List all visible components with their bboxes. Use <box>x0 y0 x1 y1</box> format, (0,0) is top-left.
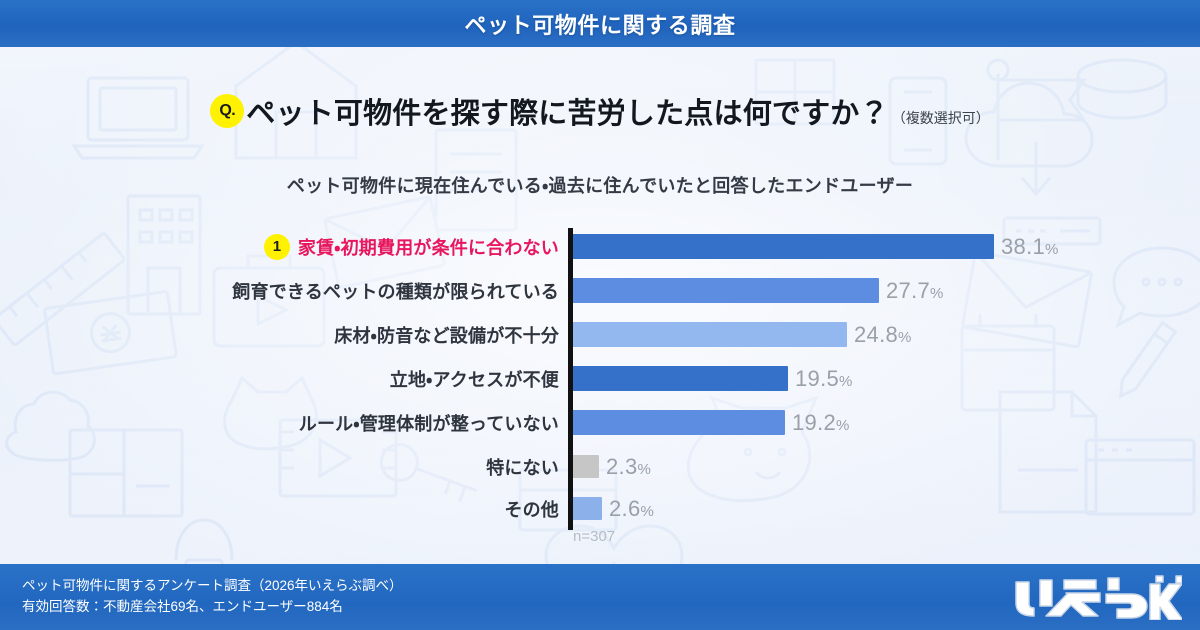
chart-bar <box>573 278 879 303</box>
chart-row-label-wrap: 1 家賃・初期費用が条件に合わない <box>0 228 568 265</box>
chart-row-label-wrap: 飼育できるペットの種類が限られている <box>0 272 568 309</box>
chart-bar <box>573 455 599 478</box>
chart-category-label: 家賃・初期費用が条件に合わない <box>298 234 559 260</box>
footer-line-1: ペット可物件に関するアンケート調査（2026年いえらぶ調べ） <box>22 575 403 596</box>
chart-bar-value: 19.2% <box>792 410 850 436</box>
ielove-logo <box>1010 574 1182 620</box>
chart-row: 飼育できるペットの種類が限られている 27.7% <box>0 272 1200 309</box>
chart-category-label: 飼育できるペットの種類が限られている <box>232 278 559 304</box>
footer-source-text: ペット可物件に関するアンケート調査（2026年いえらぶ調べ） 有効回答数：不動産… <box>22 575 403 617</box>
chart-category-label: 特にない <box>486 454 559 480</box>
chart-row-label-wrap: ルール・管理体制が整っていない <box>0 404 568 441</box>
header-bar: ペット可物件に関する調査 <box>0 0 1200 47</box>
chart-bar-value: 27.7% <box>886 278 944 304</box>
chart-bar-wrap: 24.8% <box>573 316 912 353</box>
chart-bar-value: 2.6% <box>609 496 654 522</box>
chart-row: 1 家賃・初期費用が条件に合わない 38.1% <box>0 228 1200 265</box>
chart-category-label: 立地・アクセスが不便 <box>390 366 559 392</box>
chart-bar-wrap: 27.7% <box>573 272 944 309</box>
infographic-canvas: ペット可物件に関する調査 Q. ペット可物件を探す際に苦労した点は何ですか？ （… <box>0 0 1200 630</box>
chart-bar-wrap: 2.6% <box>573 490 654 527</box>
chart-bar-wrap: 2.3% <box>573 448 651 485</box>
chart-bar <box>573 234 994 259</box>
chart-subtitle: ペット可物件に現在住んでいる・過去に住んでいたと回答したエンドユーザー <box>0 172 1200 198</box>
chart-row: 特にない 2.3% <box>0 448 1200 485</box>
chart-row-label-wrap: 立地・アクセスが不便 <box>0 360 568 397</box>
chart-row: その他 2.6% <box>0 490 1200 527</box>
chart-bar-value: 24.8% <box>854 322 912 348</box>
chart-bar <box>573 497 602 520</box>
chart-bar-wrap: 38.1% <box>573 228 1059 265</box>
chart-bar-value: 2.3% <box>606 454 651 480</box>
question-text: ペット可物件を探す際に苦労した点は何ですか？ <box>246 90 888 132</box>
chart-row-label-wrap: 床材・防音など設備が不十分 <box>0 316 568 353</box>
chart-category-label: 床材・防音など設備が不十分 <box>334 322 559 348</box>
chart-row: ルール・管理体制が整っていない 19.2% <box>0 404 1200 441</box>
chart-row-label-wrap: 特にない <box>0 448 568 485</box>
chart-bar <box>573 410 785 435</box>
chart-row-label-wrap: その他 <box>0 490 568 527</box>
sample-size-note: n=307 <box>573 528 615 545</box>
chart-bar-value: 38.1% <box>1001 234 1059 260</box>
question-note: （複数選択可） <box>892 108 990 128</box>
footer-line-2: 有効回答数：不動産会社69名、エンドユーザー884名 <box>22 596 403 617</box>
chart-bar <box>573 366 788 391</box>
chart-bar-wrap: 19.5% <box>573 360 853 397</box>
chart-bar <box>573 322 847 347</box>
question-row: Q. ペット可物件を探す際に苦労した点は何ですか？ （複数選択可） <box>0 90 1200 132</box>
bar-chart: 1 家賃・初期費用が条件に合わない 38.1% 飼育できるペットの種類が限られて… <box>0 224 1200 536</box>
chart-category-label: ルール・管理体制が整っていない <box>299 410 559 436</box>
chart-row: 立地・アクセスが不便 19.5% <box>0 360 1200 397</box>
chart-category-label: その他 <box>504 496 559 522</box>
page-title: ペット可物件に関する調査 <box>464 8 735 40</box>
footer-bar: ペット可物件に関するアンケート調査（2026年いえらぶ調べ） 有効回答数：不動産… <box>0 564 1200 630</box>
chart-bar-wrap: 19.2% <box>573 404 850 441</box>
chart-row: 床材・防音など設備が不十分 24.8% <box>0 316 1200 353</box>
chart-bar-value: 19.5% <box>795 366 853 392</box>
rank-badge-1: 1 <box>264 234 290 260</box>
question-badge: Q. <box>210 94 244 128</box>
